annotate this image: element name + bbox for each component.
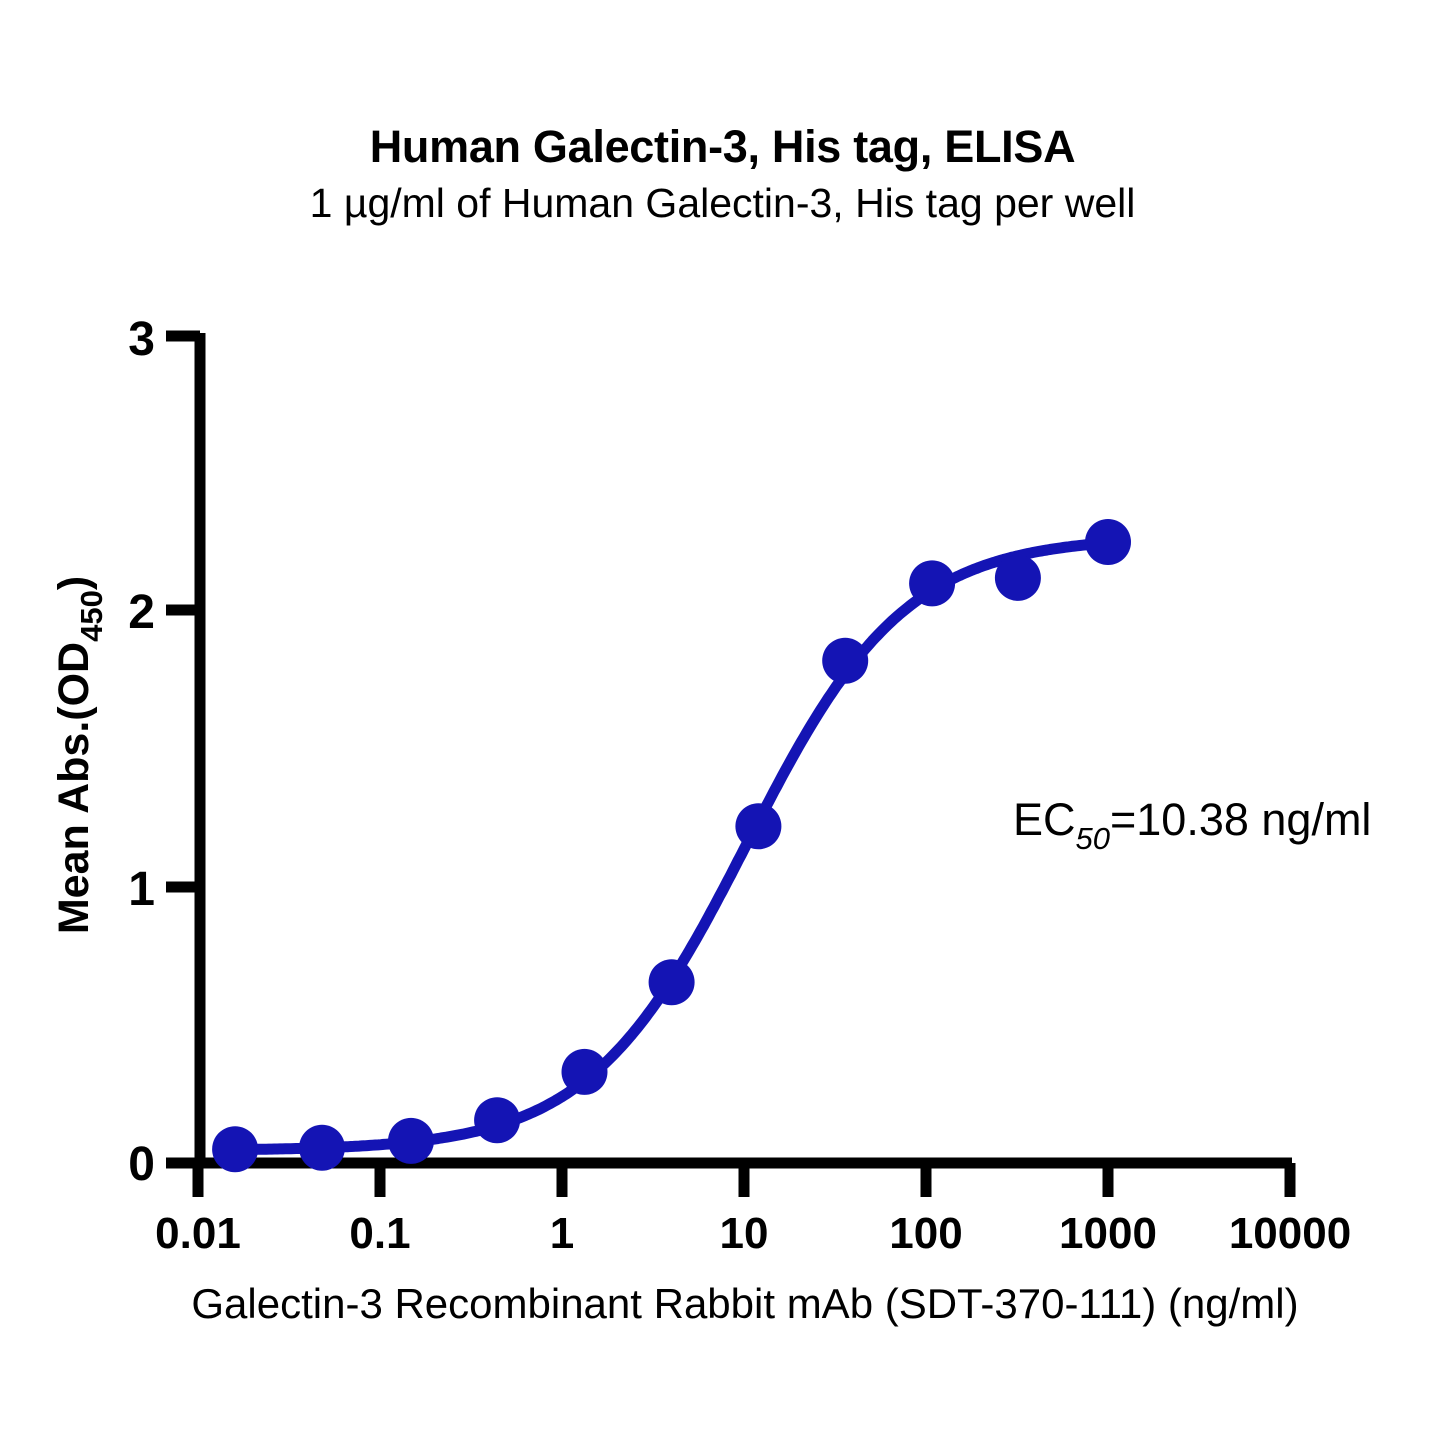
data-point (735, 803, 781, 849)
y-tick-label-1: 1 (128, 863, 155, 916)
data-point (388, 1118, 434, 1164)
y-axis-label: Mean Abs.(OD450) (50, 576, 109, 934)
y-tick-label-3: 3 (128, 313, 155, 366)
axis-lines (195, 333, 1292, 1163)
x-tick-label-10000: 10000 (1229, 1209, 1351, 1258)
ec50-subscript: 50 (1076, 821, 1110, 856)
fit-curve (236, 542, 1115, 1149)
ec50-annotation: EC50=10.38 ng/ml (1013, 794, 1371, 856)
data-point (212, 1126, 258, 1172)
y-axis-label-close: ) (50, 576, 98, 590)
ec50-suffix: =10.38 ng/ml (1110, 794, 1371, 845)
y-tick-label-2: 2 (128, 586, 155, 639)
x-tick-label-0.01: 0.01 (155, 1209, 241, 1258)
x-tick-label-100: 100 (889, 1209, 962, 1258)
y-tick-labels: 0 1 2 3 (128, 313, 155, 1191)
data-point (299, 1125, 345, 1171)
svg-text:Mean Abs.(OD450): Mean Abs.(OD450) (50, 576, 109, 934)
x-tick-labels: 0.01 0.1 1 10 100 1000 10000 (155, 1209, 1351, 1258)
data-point (562, 1049, 608, 1095)
data-point (822, 638, 868, 684)
x-tick-label-1000: 1000 (1059, 1209, 1157, 1258)
x-tick-label-1: 1 (550, 1209, 574, 1258)
ec50-prefix: EC (1013, 794, 1076, 845)
data-point-group (212, 519, 1131, 1172)
plot-area: 0 1 2 3 0.01 0.1 1 10 100 1000 10000 Gal… (0, 0, 1445, 1445)
data-point (995, 555, 1041, 601)
y-axis-label-main: Mean Abs.(OD (50, 642, 98, 934)
x-tick-label-0.1: 0.1 (349, 1209, 410, 1258)
data-point (909, 560, 955, 606)
data-point (1085, 519, 1131, 565)
y-tick-label-0: 0 (128, 1138, 155, 1191)
data-point (649, 959, 695, 1005)
x-axis-label: Galectin-3 Recombinant Rabbit mAb (SDT-3… (191, 1280, 1298, 1327)
y-axis-label-subscript: 450 (74, 590, 109, 642)
chart-figure: Human Galectin-3, His tag, ELISA 1 µg/ml… (0, 0, 1445, 1445)
x-tick-label-10: 10 (720, 1209, 769, 1258)
data-point (474, 1097, 520, 1143)
